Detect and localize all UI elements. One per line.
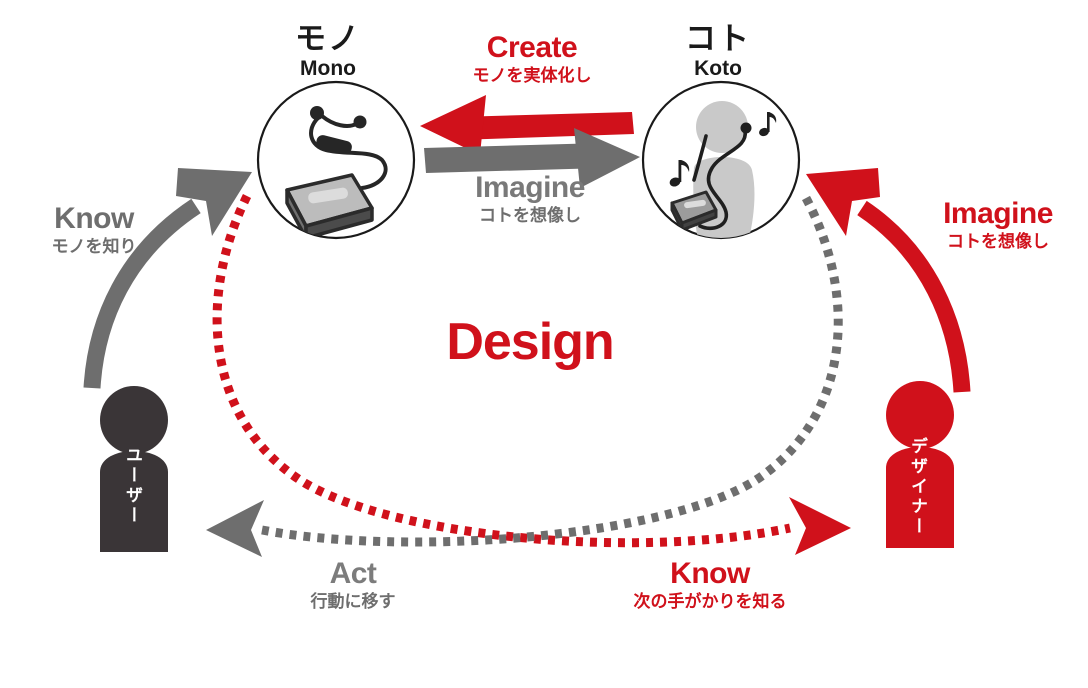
node-title-mono-jp: モノ — [238, 22, 418, 56]
label-know-red-jp: 次の手がかりを知る — [590, 593, 830, 611]
arrow-act-gray — [206, 198, 838, 557]
node-title-koto: コト Koto — [628, 22, 808, 82]
person-label-user: ユーザー — [124, 446, 141, 526]
label-know-red-en: Know — [590, 558, 830, 590]
arrow-know-gray — [92, 168, 252, 388]
label-imagine-gray: Imagine コトを想像し — [430, 172, 630, 224]
person-label-designer: デザイナー — [909, 437, 926, 537]
label-imagine-gray-jp: コトを想像し — [430, 207, 630, 225]
label-act-en: Act — [258, 558, 448, 590]
label-imagine-red: Imagine コトを想像し — [908, 198, 1088, 250]
arrow-know-red — [217, 196, 851, 555]
label-act: Act 行動に移す — [258, 558, 448, 610]
label-imagine-red-jp: コトを想像し — [908, 233, 1088, 251]
node-title-mono-en: Mono — [238, 56, 418, 82]
node-title-mono: モノ Mono — [238, 22, 418, 82]
label-imagine-red-en: Imagine — [908, 198, 1088, 230]
label-imagine-gray-en: Imagine — [430, 172, 630, 204]
label-know-gray: Know モノを知り — [14, 203, 174, 255]
label-create-en: Create — [432, 32, 632, 64]
label-create-jp: モノを実体化し — [432, 67, 632, 85]
node-koto — [643, 82, 799, 250]
node-title-koto-jp: コト — [628, 22, 808, 56]
center-label-design: Design — [400, 312, 660, 372]
diagram-canvas: モノ Mono コト Koto Create モノを実体化し Imagine コ… — [0, 0, 1088, 688]
label-know-red: Know 次の手がかりを知る — [590, 558, 830, 610]
node-mono — [258, 82, 414, 238]
label-act-jp: 行動に移す — [258, 593, 448, 611]
label-know-gray-en: Know — [14, 203, 174, 235]
label-know-gray-jp: モノを知り — [14, 238, 174, 256]
label-create: Create モノを実体化し — [432, 32, 632, 84]
node-title-koto-en: Koto — [628, 56, 808, 82]
